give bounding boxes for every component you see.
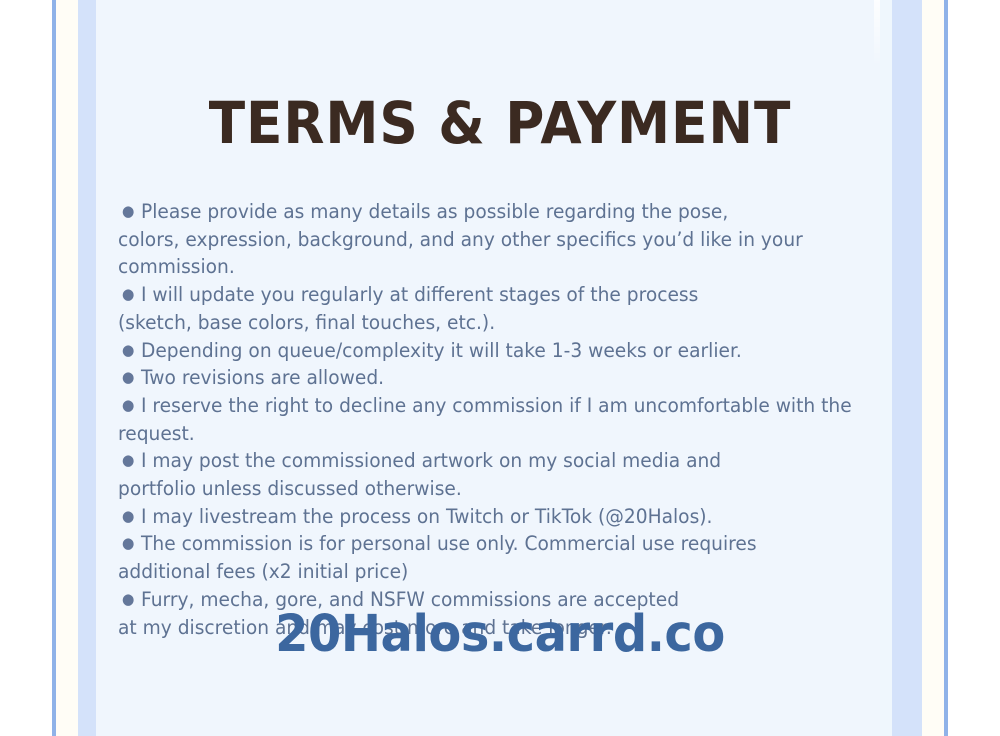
terms-list-item: ●The commission is for personal use only… [118, 530, 872, 585]
terms-list-item-text: I will update you regularly at different… [118, 283, 698, 334]
bullet-icon: ● [122, 337, 135, 365]
bullet-icon: ● [122, 281, 135, 309]
terms-list: ●Please provide as many details as possi… [118, 198, 872, 641]
terms-list-item: ●I may livestream the process on Twitch … [118, 503, 872, 531]
terms-list-item: ●Depending on queue/complexity it will t… [118, 337, 872, 365]
terms-list-item-text: Depending on queue/complexity it will ta… [141, 339, 742, 362]
terms-list-item-text: Two revisions are allowed. [141, 366, 384, 389]
bullet-icon: ● [122, 198, 135, 226]
terms-list-item: ●I reserve the right to decline any comm… [118, 392, 872, 447]
commission-terms-page: TERMS & PAYMENT ●Please provide as many … [0, 0, 1000, 736]
bullet-icon: ● [122, 392, 135, 420]
terms-list-item-text: I may post the commissioned artwork on m… [118, 449, 721, 500]
terms-list-item: ●I may post the commissioned artwork on … [118, 447, 872, 502]
terms-list-item-text: Please provide as many details as possib… [118, 200, 803, 278]
content-area: TERMS & PAYMENT ●Please provide as many … [0, 0, 1000, 736]
bullet-icon: ● [122, 364, 135, 392]
bullet-icon: ● [122, 503, 135, 531]
terms-list-item-text: I may livestream the process on Twitch o… [141, 505, 712, 528]
page-title: TERMS & PAYMENT [40, 92, 960, 154]
terms-list-item-text: The commission is for personal use only.… [118, 532, 757, 583]
terms-list-item: ●Two revisions are allowed. [118, 364, 872, 392]
bullet-icon: ● [122, 530, 135, 558]
footer-url[interactable]: 20Halos.carrd.co [30, 606, 970, 664]
terms-list-item: ●I will update you regularly at differen… [118, 281, 872, 336]
bullet-icon: ● [122, 447, 135, 475]
terms-list-item-text: I reserve the right to decline any commi… [118, 394, 852, 445]
terms-list-item: ●Please provide as many details as possi… [118, 198, 872, 281]
